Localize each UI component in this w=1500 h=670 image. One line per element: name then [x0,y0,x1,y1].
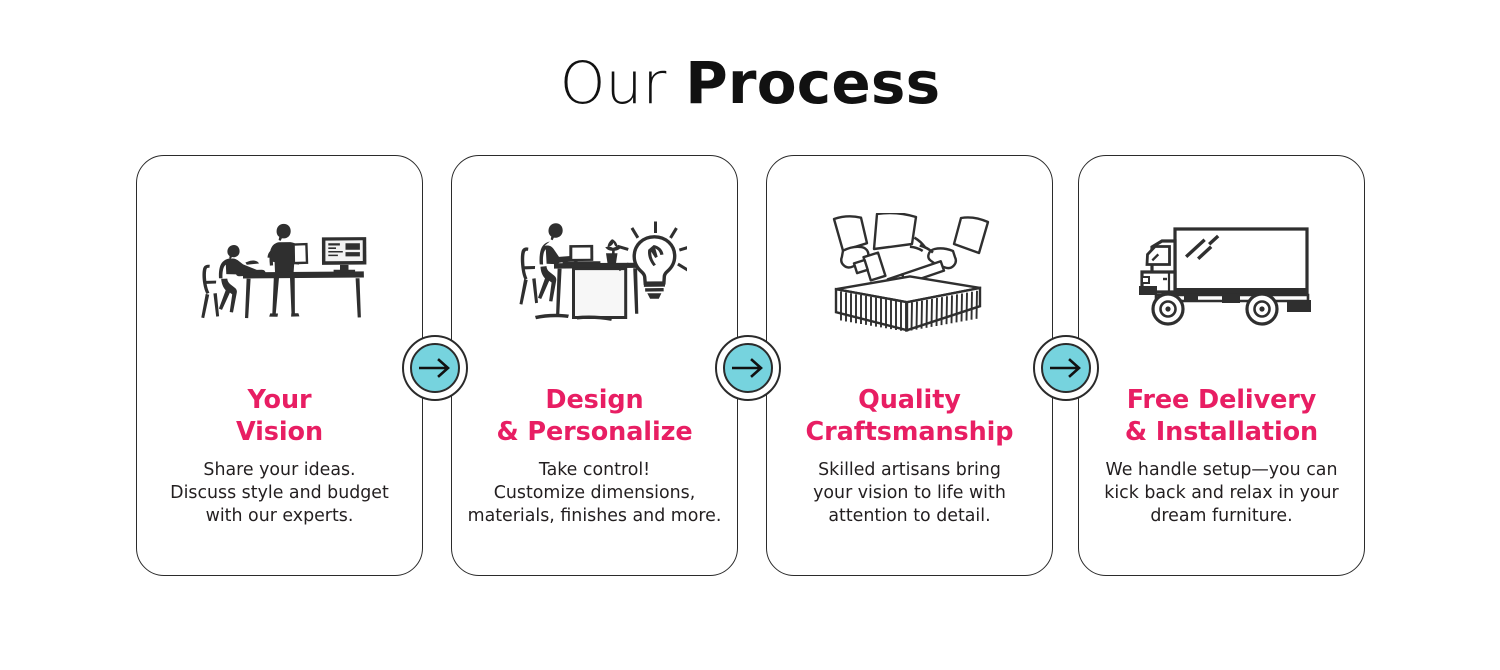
page-title-bold: Process [685,49,940,117]
process-step-description: We handle setup—you can kick back and re… [1089,459,1354,528]
process-step-card-1[interactable]: Your Vision Share your ideas. Discuss st… [136,155,423,576]
heading-line-1: Quality [858,385,961,415]
body-line-3: dream furniture. [1150,506,1292,526]
body-line-3: with our experts. [206,506,354,526]
heading-line-1: Free Delivery [1127,385,1317,415]
heading-line-2: & Installation [1125,417,1318,447]
step-connector-1 [402,335,468,401]
body-line-1: Share your ideas. [203,460,355,480]
process-step-description: Skilled artisans bring your vision to li… [777,459,1042,528]
hands-mallet-chisel-icon [767,204,1052,344]
heading-line-2: & Personalize [496,417,692,447]
consultation-desk-icon [137,204,422,344]
process-step-card-4[interactable]: Free Delivery & Installation We handle s… [1078,155,1365,576]
heading-line-2: Craftsmanship [806,417,1014,447]
page-title-light: Our [560,49,686,117]
body-line-2: Discuss style and budget [170,483,389,503]
process-step-card-3[interactable]: Quality Craftsmanship Skilled artisans b… [766,155,1053,576]
process-step-description: Share your ideas. Discuss style and budg… [147,459,412,528]
body-line-2: your vision to life with [813,483,1006,503]
designer-laptop-lightbulb-icon [452,204,737,344]
process-step-heading: Design & Personalize [460,384,729,448]
body-line-3: materials, finishes and more. [468,506,722,526]
heading-line-2: Vision [236,417,323,447]
page-title: Our Process [0,52,1500,116]
body-line-1: Skilled artisans bring [818,460,1001,480]
body-line-1: We handle setup—you can [1106,460,1338,480]
process-step-card-2[interactable]: Design & Personalize Take control! Custo… [451,155,738,576]
heading-line-1: Design [545,385,643,415]
body-line-1: Take control! [539,460,650,480]
process-step-description: Take control! Customize dimensions, mate… [462,459,727,528]
delivery-truck-icon [1079,204,1364,344]
heading-line-1: Your [248,385,312,415]
body-line-3: attention to detail. [828,506,990,526]
process-step-heading: Quality Craftsmanship [775,384,1044,448]
process-step-heading: Your Vision [145,384,414,448]
arrow-right-icon [723,343,773,393]
body-line-2: kick back and relax in your [1104,483,1338,503]
arrow-right-icon [410,343,460,393]
step-connector-2 [715,335,781,401]
arrow-right-icon [1041,343,1091,393]
body-line-2: Customize dimensions, [494,483,696,503]
step-connector-3 [1033,335,1099,401]
process-step-heading: Free Delivery & Installation [1087,384,1356,448]
